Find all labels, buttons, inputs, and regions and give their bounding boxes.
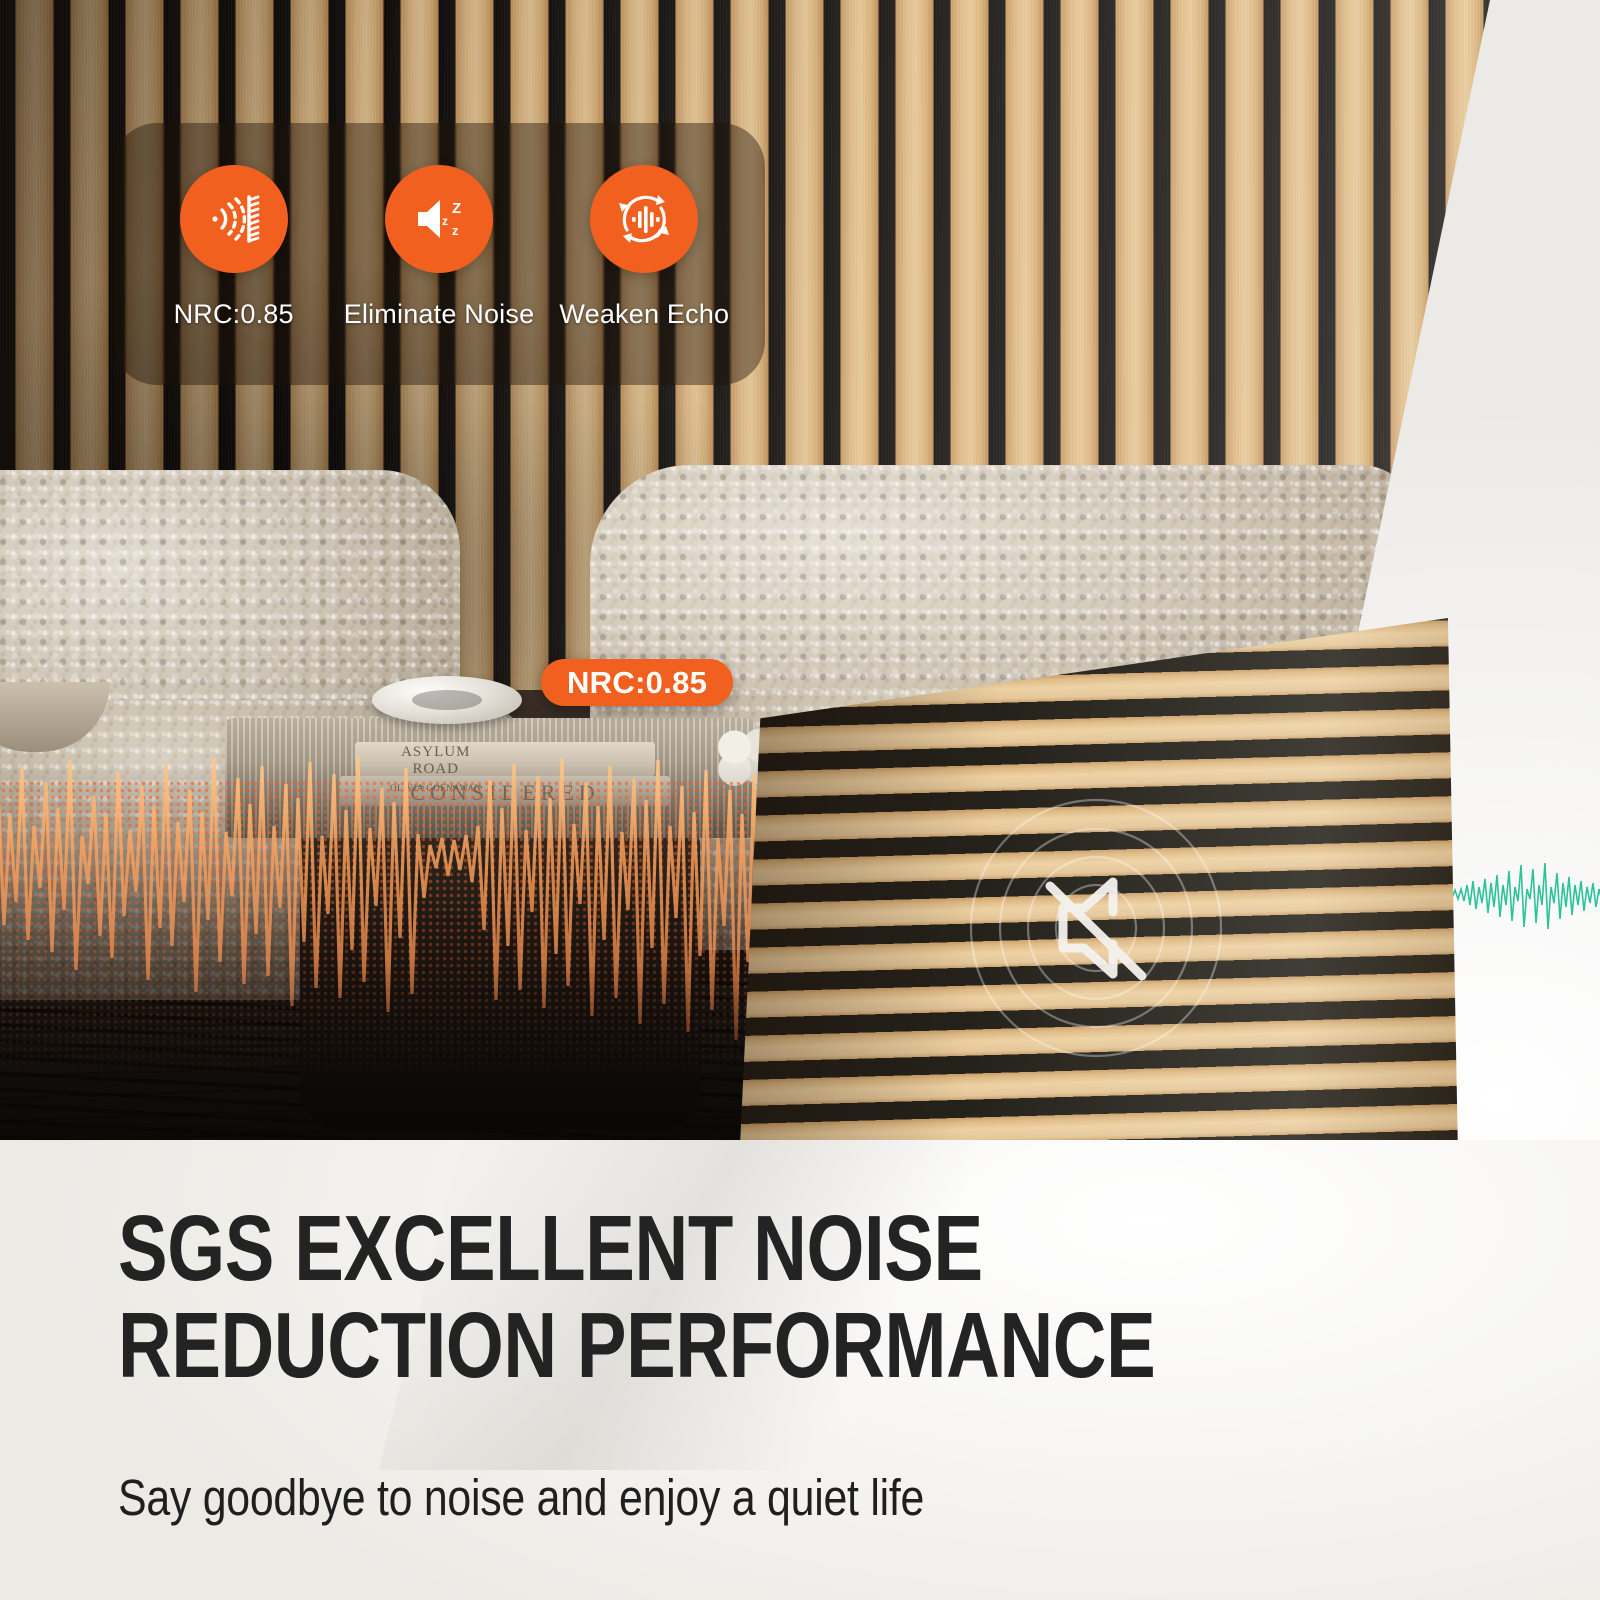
nrc-badge-label: NRC:0.85: [567, 665, 707, 701]
feature-row: NRC:0.85 Z z z Elimin: [113, 123, 765, 385]
coffee-table-base: [300, 830, 700, 1130]
svg-text:z: z: [452, 223, 459, 238]
feature-label-weaken-echo: Weaken Echo: [559, 299, 729, 330]
svg-text:z: z: [442, 214, 448, 228]
svg-text:Z: Z: [452, 200, 461, 217]
nrc-badge: NRC:0.85: [541, 659, 733, 706]
feature-item-nrc[interactable]: NRC:0.85: [139, 165, 329, 330]
feature-item-weaken-echo[interactable]: Weaken Echo: [549, 165, 739, 330]
marble-bowl: [372, 676, 522, 724]
page-subtitle: Say goodbye to noise and enjoy a quiet l…: [118, 1468, 1244, 1527]
book-title-line2: ROAD: [413, 761, 460, 777]
sound-absorption-icon: [203, 188, 265, 250]
book-upper-title: ASYLUM ROAD OLIVIA GOENAWAN: [390, 744, 482, 796]
book-author: OLIVIA GOENAWAN: [390, 783, 482, 793]
feature-label-eliminate-noise: Eliminate Noise: [344, 299, 535, 330]
room-scene: CONSIDERED ASYLUM ROAD OLIVIA GOENAWAN: [0, 0, 1600, 1150]
page-title: SGS EXCELLENT NOISE REDUCTION PERFORMANC…: [118, 1200, 1174, 1393]
feature-panel: NRC:0.85 Z z z Elimin: [113, 123, 765, 385]
feature-icon-badge: [590, 165, 698, 273]
feature-item-eliminate-noise[interactable]: Z z z Eliminate Noise: [344, 165, 534, 330]
speaker-sleep-icon: Z z z: [408, 188, 470, 250]
feature-icon-badge: Z z z: [385, 165, 493, 273]
echo-recycle-icon: [613, 188, 675, 250]
book-title-line1: ASYLUM: [401, 744, 470, 760]
product-marketing-image: CONSIDERED ASYLUM ROAD OLIVIA GOENAWAN: [0, 0, 1600, 1600]
feature-label-nrc: NRC:0.85: [174, 299, 294, 330]
feature-icon-badge: [180, 165, 288, 273]
